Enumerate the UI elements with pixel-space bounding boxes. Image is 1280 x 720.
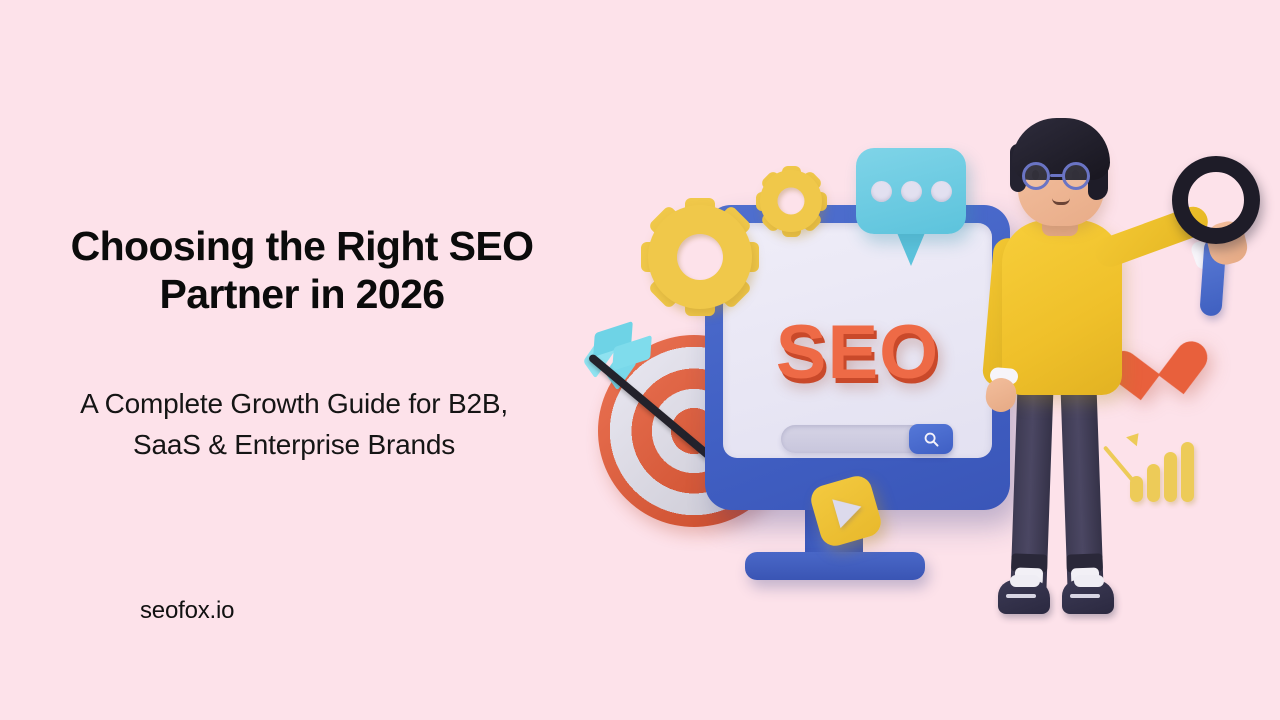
character-shoe [1062,580,1114,614]
play-icon [832,492,865,528]
chat-dot [871,181,892,202]
gear-large-icon [648,205,752,309]
hero-illustration: SEO [560,0,1280,720]
glasses-icon [1018,162,1106,190]
page-title: Choosing the Right SEO Partner in 2026 [62,222,542,319]
chat-dot [931,181,952,202]
page-subtitle: A Complete Growth Guide for B2B, SaaS & … [44,384,544,466]
monitor-screen: SEO [723,223,992,458]
search-icon [923,431,940,448]
search-input[interactable] [781,425,951,453]
character-leg [1060,377,1104,596]
text-column: Choosing the Right SEO Partner in 2026 A… [0,0,580,720]
character-leg [1010,377,1054,596]
brand-wordmark: seofox.io [140,597,234,625]
character-shoe [998,580,1050,614]
seo-wordmark: SEO [723,309,992,396]
magnifying-glass-icon [1172,156,1260,244]
search-button[interactable] [909,424,953,454]
chat-bubble-icon [856,148,966,234]
gear-small-icon [760,170,822,232]
monitor-base [745,552,925,580]
character-figure [980,110,1240,620]
poster-canvas: Choosing the Right SEO Partner in 2026 A… [0,0,1280,720]
chat-dot [901,181,922,202]
